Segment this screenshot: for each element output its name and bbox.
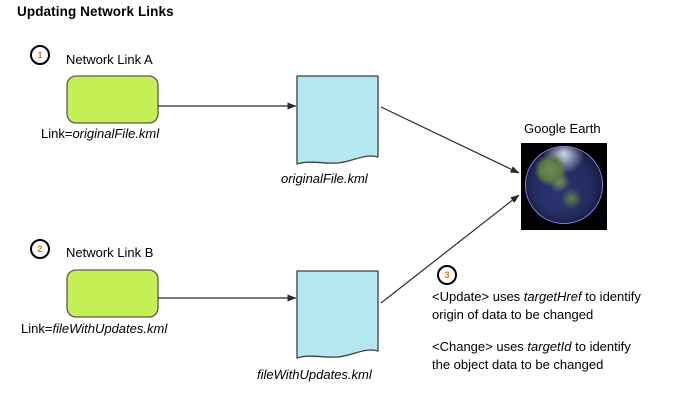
note-update-line-1-emphasis: targetHref [524, 289, 582, 304]
page-title: Updating Network Links [17, 4, 174, 21]
note-change-line-1-post: to identify [572, 339, 631, 354]
note-update-targethref: <Update> uses targetHref to identify ori… [432, 288, 641, 324]
step-marker-3: 3 [437, 265, 457, 285]
note-update-line-1-post: to identify [582, 289, 641, 304]
network-link-a-link-label: Link=originalFile.kml [41, 126, 159, 142]
link-b-target: fileWithUpdates.kml [52, 321, 167, 336]
document-file-with-updates-label: fileWithUpdates.kml [257, 367, 372, 383]
note-update-line-1-pre: <Update> uses [432, 289, 524, 304]
document-original-file-label: originalFile.kml [281, 171, 368, 187]
network-link-b-title: Network Link B [66, 245, 153, 261]
network-link-b-link-label: Link=fileWithUpdates.kml [21, 321, 167, 337]
step-marker-2: 2 [30, 239, 50, 259]
network-link-a-title: Network Link A [66, 52, 153, 68]
network-link-a-box [67, 76, 158, 123]
globe-atmosphere-ring [525, 146, 603, 224]
note-update-line-1: <Update> uses targetHref to identify [432, 288, 641, 306]
link-a-target: originalFile.kml [72, 126, 159, 141]
note-change-line-2: the object data to be changed [432, 356, 631, 374]
note-change-targetid: <Change> uses targetId to identify the o… [432, 338, 631, 374]
arrow-document-original-to-google-earth [381, 107, 519, 173]
document-file-with-updates [297, 271, 378, 358]
document-original-file [297, 76, 378, 164]
diagram-canvas: Updating Network Links 1 2 3 Network Lin… [0, 0, 688, 411]
network-link-b-box [67, 270, 158, 317]
note-change-line-1: <Change> uses targetId to identify [432, 338, 631, 356]
link-a-prefix: Link= [41, 126, 72, 141]
link-b-prefix: Link= [21, 321, 52, 336]
arrow-document-updates-to-google-earth [381, 195, 519, 303]
note-change-line-1-emphasis: targetId [527, 339, 571, 354]
google-earth-thumbnail [521, 143, 607, 230]
note-update-line-2: origin of data to be changed [432, 306, 641, 324]
step-marker-1: 1 [30, 45, 50, 65]
google-earth-label: Google Earth [524, 121, 601, 137]
note-change-line-1-pre: <Change> uses [432, 339, 527, 354]
